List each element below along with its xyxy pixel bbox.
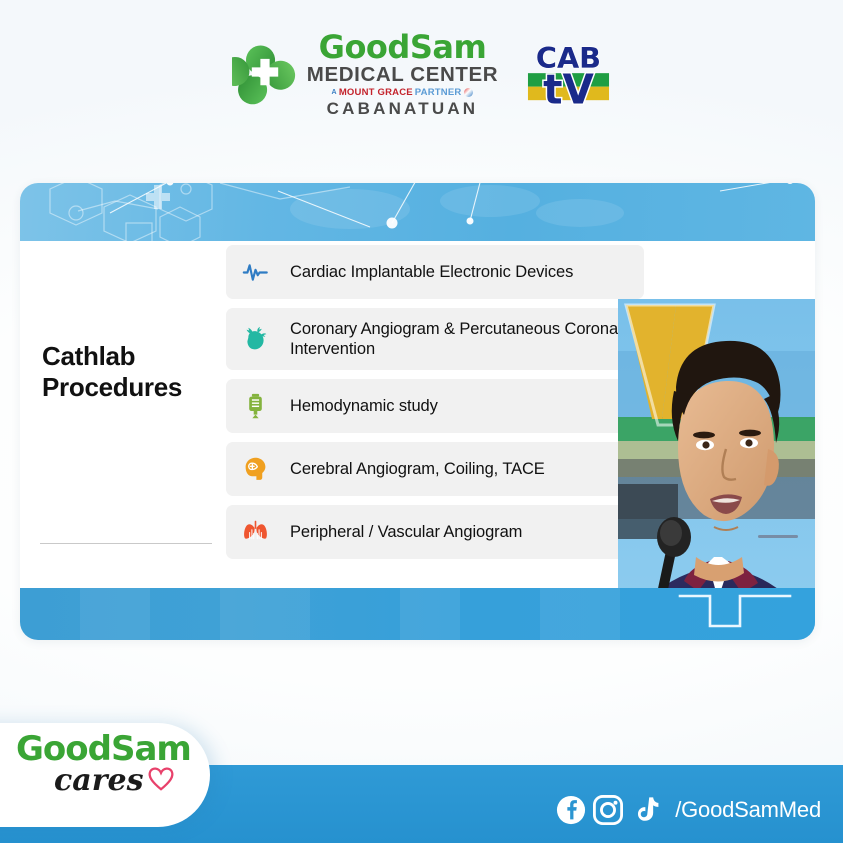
facebook-icon[interactable] <box>556 795 586 825</box>
procedures-list: Cardiac Implantable Electronic Devices <box>226 245 644 568</box>
brand-subtitle: MEDICAL CENTER <box>307 65 498 86</box>
svg-text:tV: tV <box>543 66 594 112</box>
social-links: /GoodSamMed <box>556 795 821 825</box>
footer-cares-text: cares <box>54 766 144 796</box>
partner-word: PARTNER <box>415 88 462 98</box>
footer-logo-top: GoodSam <box>16 732 216 766</box>
list-item[interactable]: Hemodynamic study <box>226 379 644 433</box>
list-item[interactable]: Peripheral / Vascular Angiogram <box>226 505 644 559</box>
tiktok-icon[interactable] <box>630 795 660 825</box>
anatomical-heart-icon <box>240 324 270 354</box>
partner-seal-icon <box>464 88 473 97</box>
list-item[interactable]: Coronary Angiogram & Percutaneous Corona… <box>226 308 644 370</box>
poster-canvas: GoodSam MEDICAL CENTER A MOUNT GRACE PAR… <box>0 0 843 843</box>
brand-name: GoodSam <box>319 31 487 63</box>
pulse-line-graphic <box>20 588 815 640</box>
partner-line: A MOUNT GRACE PARTNER <box>332 88 474 98</box>
section-title: Cathlab Procedures <box>42 341 212 402</box>
iv-drip-bag-icon <box>240 391 270 421</box>
card-body: Cathlab Procedures Cardiac Implantable E… <box>20 241 815 588</box>
heart-outline-icon <box>146 764 176 798</box>
social-handle: /GoodSamMed <box>675 797 821 823</box>
list-item-label: Cardiac Implantable Electronic Devices <box>290 262 573 282</box>
lungs-icon <box>240 517 270 547</box>
header-logos: GoodSam MEDICAL CENTER A MOUNT GRACE PAR… <box>0 0 843 148</box>
list-item-label: Cerebral Angiogram, Coiling, TACE <box>290 459 545 479</box>
cab-tv-logo: CAB tV <box>526 36 611 112</box>
card-bottom-banner <box>20 588 815 640</box>
medical-network-pattern <box>20 183 815 241</box>
card-top-banner <box>20 183 815 241</box>
list-item-label: Coronary Angiogram & Percutaneous Corona… <box>290 319 634 359</box>
instagram-icon[interactable] <box>593 795 623 825</box>
clover-cross-icon <box>232 41 298 107</box>
heartbeat-ecg-icon <box>240 257 270 287</box>
goodsam-logo: GoodSam MEDICAL CENTER A MOUNT GRACE PAR… <box>232 31 498 117</box>
partner-brand: MOUNT GRACE <box>339 88 413 98</box>
list-item[interactable]: Cardiac Implantable Electronic Devices <box>226 245 644 299</box>
footer: GoodSam cares <box>0 756 843 843</box>
list-item[interactable]: Cerebral Angiogram, Coiling, TACE <box>226 442 644 496</box>
content-card: Cathlab Procedures Cardiac Implantable E… <box>20 183 815 640</box>
goodsam-wordmark: GoodSam MEDICAL CENTER A MOUNT GRACE PAR… <box>307 31 498 117</box>
list-item-label: Hemodynamic study <box>290 396 438 416</box>
list-item-label: Peripheral / Vascular Angiogram <box>290 522 522 542</box>
goodsam-cares-logo: GoodSam cares <box>16 732 216 798</box>
partner-prefix: A <box>332 89 337 96</box>
title-line-2: Procedures <box>42 372 212 403</box>
brand-city: CABANATUAN <box>327 100 479 117</box>
title-divider <box>40 543 212 544</box>
title-line-1: Cathlab <box>42 341 212 372</box>
footer-logo-bottom: cares <box>54 764 216 798</box>
brain-head-icon <box>240 454 270 484</box>
